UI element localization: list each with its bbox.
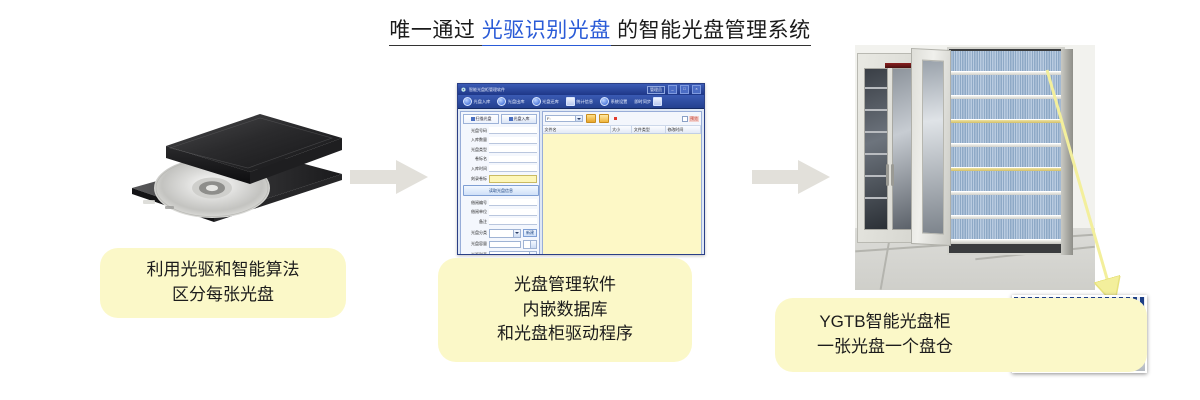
column-modified[interactable]: 修改时间 — [666, 126, 701, 133]
scan-icon — [471, 117, 475, 121]
toolbar-button-sync[interactable]: 即时同步 — [631, 96, 664, 107]
toolbar-button-disc-out[interactable]: 光盘出库 — [494, 96, 527, 107]
tab-label-disc-in: 光盘入库 — [514, 116, 530, 122]
input-borrow-id[interactable] — [489, 199, 537, 206]
disc-out-icon — [497, 97, 506, 106]
file-list-header: 文件名 大小 文件类型 修改时间 — [543, 126, 701, 134]
left-panel-tabs[interactable]: 扫描光盘 光盘入库 — [463, 114, 537, 124]
select-disc-category[interactable] — [489, 229, 521, 238]
preview-toggle[interactable]: 预览 — [682, 116, 700, 122]
preview-label: 预览 — [689, 116, 699, 122]
page-title: 唯一通过 光驱识别光盘 的智能光盘管理系统 — [0, 14, 1200, 44]
title-tail: 的智能光盘管理系统 — [617, 19, 811, 46]
preview-checkbox[interactable] — [682, 116, 688, 122]
drive-path-value: F: — [547, 116, 551, 121]
toolbar-label-disc-out: 光盘出库 — [508, 99, 525, 105]
disc-cabinet-photo — [855, 45, 1095, 290]
app-body: 扫描光盘 光盘入库 光盘号码 入库数量 光盘类型 — [458, 109, 704, 255]
label-disc-category: 光盘分类 — [463, 230, 487, 236]
app-toolbar[interactable]: 光盘入库 光盘出库 光盘还库 统计信息 系统设置 即时同步 — [458, 95, 704, 109]
folder-up-icon[interactable] — [599, 114, 609, 123]
chevron-down-icon-drive[interactable] — [529, 252, 536, 255]
select-drive-list[interactable] — [489, 251, 537, 255]
field-disc-category[interactable]: 光盘分类 新建 — [463, 229, 537, 238]
toolbar-label-stats: 统计信息 — [576, 99, 593, 105]
input-volume-label[interactable] — [489, 156, 537, 163]
drive-path-select[interactable]: F: — [545, 115, 583, 122]
disc-management-software-window[interactable]: 💿 智能光盘柜管理软件 管理员 _ □ × 光盘入库 光盘出库 光盘还库 — [457, 83, 705, 255]
label-disc-number: 光盘号码 — [463, 128, 487, 134]
arrow-right-icon — [350, 160, 428, 194]
chevron-down-icon[interactable] — [513, 230, 520, 237]
column-filetype[interactable]: 文件类型 — [632, 126, 666, 133]
folder-open-icon[interactable] — [586, 114, 596, 123]
column-filename[interactable]: 文件名 — [543, 126, 611, 133]
disc-back-icon — [532, 97, 541, 106]
input-in-time[interactable] — [489, 165, 537, 172]
input-disc-type[interactable] — [489, 146, 537, 153]
title-highlight: 光驱识别光盘 — [482, 19, 611, 46]
caption-right-text: YGTB智能光盘柜 一张光盘一个盘仓 — [817, 310, 953, 359]
close-icon[interactable]: × — [692, 85, 701, 94]
gear-icon — [600, 97, 609, 106]
field-burn-label[interactable]: 刻录卷标 — [463, 175, 537, 183]
slide-canvas: 唯一通过 光驱识别光盘 的智能光盘管理系统 — [0, 0, 1200, 400]
minimize-icon[interactable]: _ — [668, 85, 677, 94]
tab-scan-disc[interactable]: 扫描光盘 — [463, 114, 499, 124]
label-drive-list: 光驱列表 — [463, 252, 487, 255]
label-in-quantity: 入库数量 — [463, 137, 487, 143]
label-borrow-id: 借阅编号 — [463, 200, 487, 206]
label-in-time: 入库时间 — [463, 166, 487, 172]
caption-middle: 光盘管理软件 内嵌数据库 和光盘柜驱动程序 — [438, 258, 692, 362]
tab-label-scan-disc: 扫描光盘 — [476, 116, 492, 122]
app-left-panel[interactable]: 扫描光盘 光盘入库 光盘号码 入库数量 光盘类型 — [460, 111, 540, 255]
field-in-time[interactable]: 入库时间 — [463, 165, 537, 172]
app-icon: 💿 — [461, 87, 466, 92]
toolbar-label-sync: 即时同步 — [634, 99, 651, 105]
stats-icon — [566, 97, 575, 106]
maximize-icon[interactable]: □ — [680, 85, 689, 94]
arrow-right-icon-2 — [752, 160, 830, 194]
stepper-arrows-icon[interactable] — [530, 241, 536, 248]
title-lead: 唯一通过 — [389, 19, 475, 46]
label-borrow-unit: 借阅单位 — [463, 209, 487, 215]
input-burn-label[interactable] — [489, 175, 537, 183]
cabinet-right-edge — [1061, 49, 1073, 255]
field-borrow-unit[interactable]: 借阅单位 — [463, 209, 537, 216]
label-volume-label: 卷标名 — [463, 156, 487, 162]
toolbar-button-stats[interactable]: 统计信息 — [563, 96, 596, 107]
field-disc-number[interactable]: 光盘号码 — [463, 127, 537, 134]
label-disc-type: 光盘类型 — [463, 147, 487, 153]
toolbar-button-settings[interactable]: 系统设置 — [597, 96, 630, 107]
toolbar-button-disc-back[interactable]: 光盘还库 — [529, 96, 562, 107]
toolbar-button-disc-in[interactable]: 光盘入库 — [460, 96, 493, 107]
cabinet-door-pane — [922, 60, 944, 235]
app-window-title: 智能光盘柜管理软件 — [469, 87, 644, 93]
field-remark[interactable]: 备注 — [463, 218, 537, 225]
field-drive-list[interactable]: 光驱列表 — [463, 251, 537, 255]
toolbar-label-settings: 系统设置 — [611, 99, 628, 105]
label-burn-label: 刻录卷标 — [463, 176, 487, 182]
toolbar-label-disc-back: 光盘还库 — [542, 99, 559, 105]
chevron-down-icon-path[interactable] — [575, 116, 582, 121]
label-disc-capacity: 光盘容量 — [463, 241, 487, 247]
optical-disc-drive-photo — [110, 96, 345, 224]
field-disc-type[interactable]: 光盘类型 — [463, 146, 537, 153]
cabinet-open-glass-door[interactable] — [911, 48, 951, 246]
tab-disc-in[interactable]: 光盘入库 — [501, 114, 537, 124]
input-in-quantity[interactable] — [489, 137, 537, 144]
toolbar-label-disc-in: 光盘入库 — [474, 99, 491, 105]
cabinet-main-body — [947, 47, 1065, 255]
caption-right: YGTB智能光盘柜 一张光盘一个盘仓 — [775, 298, 1147, 372]
field-in-quantity[interactable]: 入库数量 — [463, 137, 537, 144]
field-volume-label[interactable]: 卷标名 — [463, 156, 537, 163]
column-size[interactable]: 大小 — [611, 126, 633, 133]
new-category-button[interactable]: 新建 — [523, 229, 537, 237]
disc-in-icon — [463, 97, 472, 106]
cabinet-glass-left — [864, 68, 888, 230]
caption-middle-text: 光盘管理软件 内嵌数据库 和光盘柜驱动程序 — [497, 273, 633, 347]
label-remark: 备注 — [463, 219, 487, 225]
app-right-panel[interactable]: F: 预览 文件名 大小 文件类型 修改时间 — [542, 111, 702, 255]
disc-in-tab-icon — [509, 117, 513, 121]
caption-left-text: 利用光驱和智能算法 区分每张光盘 — [147, 258, 300, 307]
cabinet-secondary-unit — [857, 53, 919, 243]
input-disc-number[interactable] — [489, 127, 537, 134]
app-title-bar: 💿 智能光盘柜管理软件 管理员 _ □ × — [458, 84, 704, 95]
user-badge: 管理员 — [647, 86, 665, 94]
file-browser-toolbar[interactable]: F: 预览 — [543, 112, 701, 126]
input-remark[interactable] — [489, 218, 537, 225]
record-icon[interactable] — [614, 117, 617, 120]
sync-icon — [653, 97, 662, 106]
window-controls[interactable]: 管理员 _ □ × — [647, 85, 701, 94]
file-list-area[interactable] — [543, 134, 701, 254]
field-disc-capacity: 光盘容量 — [463, 240, 537, 249]
input-borrow-unit[interactable] — [489, 209, 537, 216]
capacity-progress-bar — [489, 241, 521, 248]
caption-left: 利用光驱和智能算法 区分每张光盘 — [100, 248, 346, 318]
field-borrow-id[interactable]: 借阅编号 — [463, 199, 537, 206]
read-disc-info-button[interactable]: 读取光盘信息 — [463, 185, 539, 196]
capacity-stepper[interactable] — [523, 240, 537, 249]
